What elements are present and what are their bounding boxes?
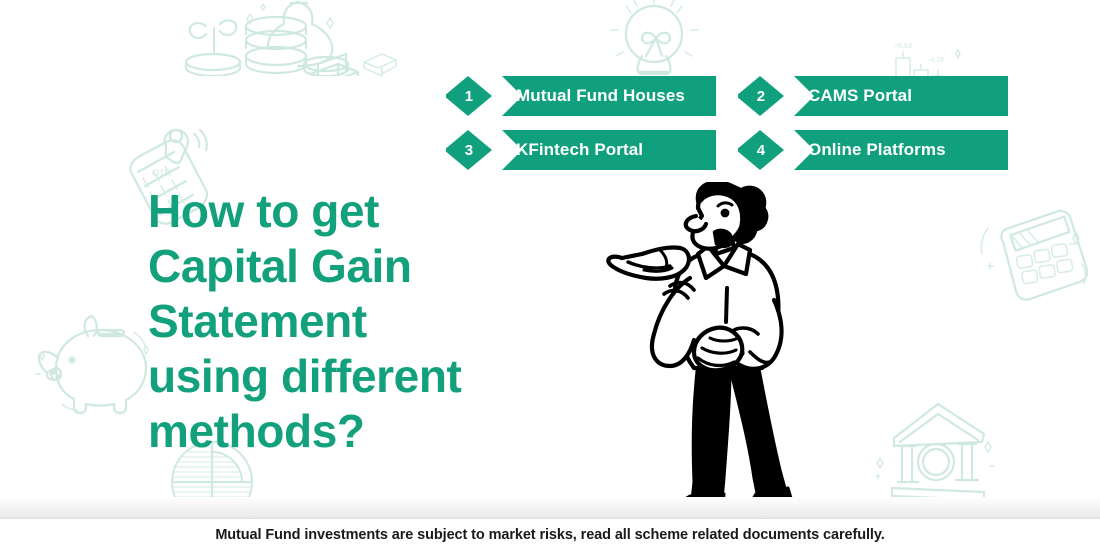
bank-building-icon <box>872 396 998 504</box>
coins-and-money-bag-icon <box>158 0 368 76</box>
chip-number: 3 <box>446 130 492 170</box>
slide-canvas: +6.53 -4.28 <box>0 0 1100 550</box>
lightbulb-icon <box>596 0 716 86</box>
title-line-3: Statement <box>148 294 568 349</box>
title-line-4: using different <box>148 349 568 404</box>
footer-divider <box>0 497 1100 519</box>
method-chip-3[interactable]: 3 KFintech Portal <box>446 130 716 170</box>
method-chip-list: 1 Mutual Fund Houses 2 CAMS Portal 3 KFi… <box>446 76 1008 176</box>
chip-number: 1 <box>446 76 492 116</box>
chip-label: Mutual Fund Houses <box>516 76 685 116</box>
chip-number: 2 <box>738 76 784 116</box>
title-line-2: Capital Gain <box>148 239 568 294</box>
svg-text:OTP: OTP <box>152 168 171 178</box>
banknote-icon <box>360 48 400 78</box>
person-illustration <box>598 182 808 517</box>
svg-text:+6.53: +6.53 <box>894 43 912 50</box>
page-title: How to get Capital Gain Statement using … <box>148 184 568 459</box>
piggy-bank-icon <box>34 312 160 416</box>
chip-label: CAMS Portal <box>808 76 912 116</box>
disclaimer-text: Mutual Fund investments are subject to m… <box>215 527 884 543</box>
method-chip-4[interactable]: 4 Online Platforms <box>738 130 1008 170</box>
svg-text:-4.28: -4.28 <box>928 57 944 64</box>
title-line-5: methods? <box>148 404 568 459</box>
chip-number: 4 <box>738 130 784 170</box>
calculator-icon <box>972 206 1098 314</box>
method-chip-1[interactable]: 1 Mutual Fund Houses <box>446 76 716 116</box>
chip-label: Online Platforms <box>808 130 946 170</box>
title-line-1: How to get <box>148 184 568 239</box>
disclaimer-bar: Mutual Fund investments are subject to m… <box>0 519 1100 550</box>
chip-label: KFintech Portal <box>516 130 643 170</box>
method-chip-2[interactable]: 2 CAMS Portal <box>738 76 1008 116</box>
